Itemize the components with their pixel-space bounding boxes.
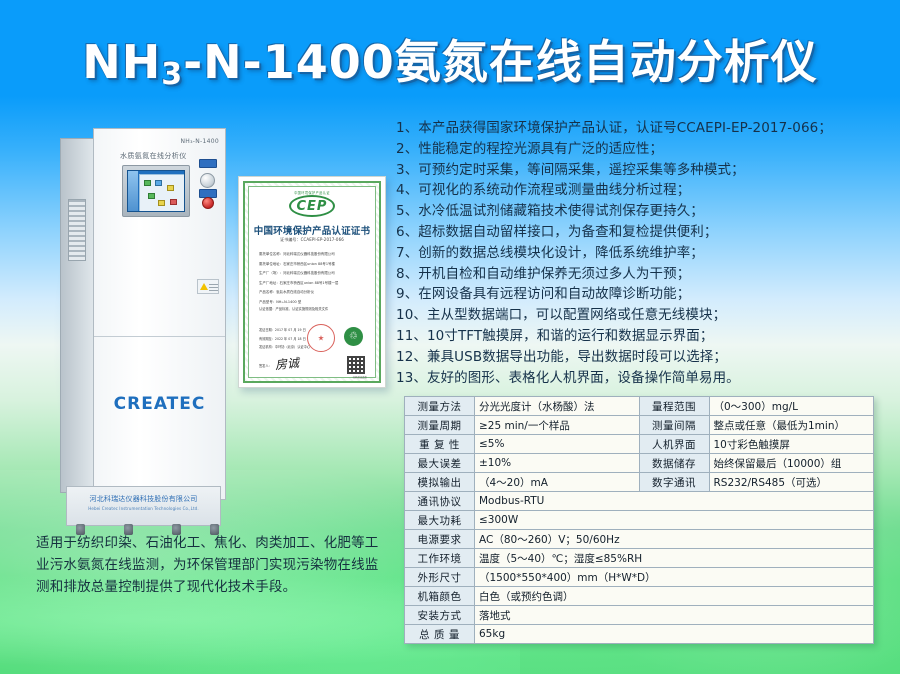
touchscreen-display	[127, 170, 185, 212]
table-row: 测量周期 ≥25 min/一个样品 测量间隔 整点或任意（最低为1min）	[405, 416, 874, 435]
flow-node-icon	[170, 199, 177, 205]
flow-node-icon	[144, 180, 151, 186]
certificate-field: 生产厂（场）：河北科瑞达仪器科技股份有限公司	[259, 270, 379, 275]
analyzer-cabinet-image: NH₃-N-1400 水质氨氮在线分析仪	[60, 128, 228, 513]
spec-label: 模拟输出	[405, 473, 475, 492]
feature-item: 3、可预约定时采集，等间隔采集，遥控采集等多种模式；	[396, 160, 896, 181]
qr-caption: 扫码验证真伪	[353, 375, 367, 379]
spec-value: 10寸彩色触摸屏	[709, 435, 874, 454]
spec-label: 数字通讯	[639, 473, 709, 492]
feature-item: 10、主从型数据端口，可以配置网络或任意无线模块；	[396, 305, 896, 326]
certificate-number: 证书编号：CCAEPI-EP-2017-066	[249, 237, 375, 243]
table-row: 最大功耗 ≤300W	[405, 511, 874, 530]
flow-node-icon	[148, 193, 155, 199]
cep-logo-icon: CEP	[289, 195, 335, 217]
spec-value: ≥25 min/一个样品	[475, 416, 640, 435]
spec-value: RS232/RS485（可选）	[709, 473, 874, 492]
flow-node-icon	[167, 185, 174, 191]
title-prefix: NH	[82, 35, 161, 89]
environment-badge-icon: ♲	[344, 327, 363, 346]
flow-node-icon	[158, 200, 165, 206]
feature-item: 5、水冷低温试剂储藏箱技术使得试剂保存更持久；	[396, 201, 896, 222]
screen-flow-diagram	[139, 174, 185, 212]
feature-item: 13、友好的图形、表格化人机界面，设备操作简单易用。	[396, 368, 896, 389]
certificate-field-list: 委托单位名称：河北科瑞达仪器科技股份有限公司 委托单位地址：石家庄市桥西区uni…	[259, 251, 379, 309]
spec-label: 外形尺寸	[405, 568, 475, 587]
certificate-border: 中国环境保护产品认证 CEP 中国环境保护产品认证证书 证书编号：CCAEPI-…	[243, 181, 381, 383]
table-row: 最大误差 ±10% 数据储存 始终保留最后（10000）组	[405, 454, 874, 473]
cabinet-base: 河北科瑞达仪器科技股份有限公司 Hebei Createc Instrument…	[66, 486, 221, 526]
brand-logo: CREATEC	[94, 394, 225, 414]
feature-item: 4、可视化的系统动作流程或测量曲线分析过程；	[396, 180, 896, 201]
table-row: 电源要求 AC（80～260）V；50/60Hz	[405, 530, 874, 549]
red-seal-icon	[307, 324, 335, 352]
certificate-field: 委托单位地址：石家庄市桥西区union 88号1号楼	[259, 261, 379, 266]
spec-value: 白色（或预约色调）	[475, 587, 874, 606]
certificate-field: 生产厂地址：石家庄市桥西区union 88号1号楼一层	[259, 280, 379, 285]
cabinet-side-panel	[60, 138, 94, 493]
table-row: 总 质 量 65kg	[405, 625, 874, 644]
emergency-stop-button[interactable]	[202, 197, 214, 209]
spec-label: 最大误差	[405, 454, 475, 473]
warning-text-lines	[209, 284, 218, 292]
spec-label: 测量间隔	[639, 416, 709, 435]
specification-table: 测量方法 分光光度计（水杨酸）法 量程范围 （0～300）mg/L 测量周期 ≥…	[404, 396, 874, 644]
cabinet-front-panel: NH₃-N-1400 水质氨氮在线分析仪	[93, 128, 226, 500]
feature-list: 1、本产品获得国家环境保护产品认证，认证号CCAEPI-EP-2017-066；…	[396, 118, 896, 388]
spec-value: ≤5%	[475, 435, 640, 454]
certificate-content: 中国环境保护产品认证 CEP 中国环境保护产品认证证书 证书编号：CCAEPI-…	[248, 186, 376, 378]
table-row: 机箱颜色 白色（或预约色调）	[405, 587, 874, 606]
spec-label: 重 复 性	[405, 435, 475, 454]
spec-label: 工作环境	[405, 549, 475, 568]
spec-label: 测量周期	[405, 416, 475, 435]
certificate-date: 发证机构：中环协（北京）认证中心	[259, 344, 310, 349]
spec-value: 始终保留最后（10000）组	[709, 454, 874, 473]
feature-item: 9、在网设备具有远程访问和自动故障诊断功能；	[396, 284, 896, 305]
title-suffix: -N-1400氨氮在线自动分析仪	[183, 35, 818, 89]
vent-grille-icon	[68, 199, 86, 261]
spec-value: AC（80～260）V；50/60Hz	[475, 530, 874, 549]
spec-value: ±10%	[475, 454, 640, 473]
spec-label: 数据储存	[639, 454, 709, 473]
touchscreen-bezel	[122, 165, 190, 217]
rotary-knob[interactable]	[200, 173, 215, 188]
signature-mark: 房诚	[274, 354, 300, 373]
feature-item: 8、开机自检和自动维护保养无须过多人为干预；	[396, 264, 896, 285]
spec-label: 人机界面	[639, 435, 709, 454]
certificate-field: 委托单位名称：河北科瑞达仪器科技股份有限公司	[259, 251, 379, 256]
company-name-cn: 河北科瑞达仪器科技股份有限公司	[67, 494, 220, 504]
certificate-field: 产品型号：NH₃-N-1400 型	[259, 299, 379, 304]
cabinet-lower-door: CREATEC	[94, 338, 225, 501]
brochure-page: NH3-N-1400氨氮在线自动分析仪 NH₃-N-1400 水质氨氮在线分析仪	[0, 0, 900, 674]
spec-label: 机箱颜色	[405, 587, 475, 606]
spec-value: 落地式	[475, 606, 874, 625]
spec-value: ≤300W	[475, 511, 874, 530]
warning-triangle-icon	[200, 283, 208, 290]
cabinet-model-label: NH₃-N-1400	[181, 138, 220, 145]
table-row: 模拟输出 （4～20）mA 数字通讯 RS232/RS485（可选）	[405, 473, 874, 492]
table-row: 安装方式 落地式	[405, 606, 874, 625]
title-subscript: 3	[161, 57, 183, 92]
application-description: 适用于纺织印染、石油化工、焦化、肉类加工、化肥等工业污水氨氮在线监测，为环保管理…	[36, 532, 386, 598]
spec-value: 温度（5～40）℃；湿度≤85%RH	[475, 549, 874, 568]
spec-value: 65kg	[475, 625, 874, 644]
feature-item: 2、性能稳定的程控光源具有广泛的适应性；	[396, 139, 896, 160]
certificate-image: 中国环境保护产品认证 CEP 中国环境保护产品认证证书 证书编号：CCAEPI-…	[238, 176, 386, 388]
certificate-title: 中国环境保护产品认证证书	[249, 223, 375, 237]
signature-label: 签发人：	[259, 363, 272, 368]
screen-sidebar	[128, 171, 138, 211]
certificate-date: 发证日期：2017 年 07 月 19 日	[259, 327, 310, 332]
spec-value: 整点或任意（最低为1min）	[709, 416, 874, 435]
feature-item: 11、10寸TFT触摸屏，和谐的运行和数据显示界面；	[396, 326, 896, 347]
certificate-date-list: 发证日期：2017 年 07 月 19 日 有效期至：2022 年 07 月 1…	[259, 327, 310, 353]
page-title: NH3-N-1400氨氮在线自动分析仪	[0, 26, 900, 92]
specification-table-wrapper: 测量方法 分光光度计（水杨酸）法 量程范围 （0～300）mg/L 测量周期 ≥…	[404, 396, 874, 644]
spec-label: 通讯协议	[405, 492, 475, 511]
spec-value: （4～20）mA	[475, 473, 640, 492]
spec-value: （1500*550*400）mm（H*W*D）	[475, 568, 874, 587]
table-row: 工作环境 温度（5～40）℃；湿度≤85%RH	[405, 549, 874, 568]
flow-node-icon	[155, 180, 162, 186]
spec-label: 安装方式	[405, 606, 475, 625]
certificate-field: 产品名称：氨氮水质在线自动分析仪	[259, 289, 379, 294]
spec-label: 量程范围	[639, 397, 709, 416]
cabinet-panel-caption: 水质氨氮在线分析仪	[120, 151, 187, 161]
feature-item: 7、创新的数据总线模块化设计，降低系统维护率；	[396, 243, 896, 264]
certificate-note: 认证依据：产品标准、认证实施规则及相关文件	[259, 307, 377, 312]
feature-item: 6、超标数据自动留样接口，为备查和复检提供便利；	[396, 222, 896, 243]
spec-label: 总 质 量	[405, 625, 475, 644]
spec-label: 测量方法	[405, 397, 475, 416]
table-row: 外形尺寸 （1500*550*400）mm（H*W*D）	[405, 568, 874, 587]
certificate-date: 有效期至：2022 年 07 月 18 日	[259, 336, 310, 341]
company-name-en: Hebei Createc Instrumentation Technologi…	[67, 506, 220, 511]
cabinet-upper-door: NH₃-N-1400 水质氨氮在线分析仪	[94, 129, 225, 337]
feature-item: 1、本产品获得国家环境保护产品认证，认证号CCAEPI-EP-2017-066；	[396, 118, 896, 139]
spec-label: 最大功耗	[405, 511, 475, 530]
table-row: 通讯协议 Modbus-RTU	[405, 492, 874, 511]
spec-value: （0～300）mg/L	[709, 397, 874, 416]
warning-label	[197, 279, 219, 294]
spec-value: Modbus-RTU	[475, 492, 874, 511]
table-row: 测量方法 分光光度计（水杨酸）法 量程范围 （0～300）mg/L	[405, 397, 874, 416]
table-row: 重 复 性 ≤5% 人机界面 10寸彩色触摸屏	[405, 435, 874, 454]
feature-item: 12、兼具USB数据导出功能，导出数据时段可以选择；	[396, 347, 896, 368]
qr-code-icon	[346, 355, 366, 375]
spec-value: 分光光度计（水杨酸）法	[475, 397, 640, 416]
panel-indicator-button-top[interactable]	[199, 159, 217, 168]
spec-label: 电源要求	[405, 530, 475, 549]
